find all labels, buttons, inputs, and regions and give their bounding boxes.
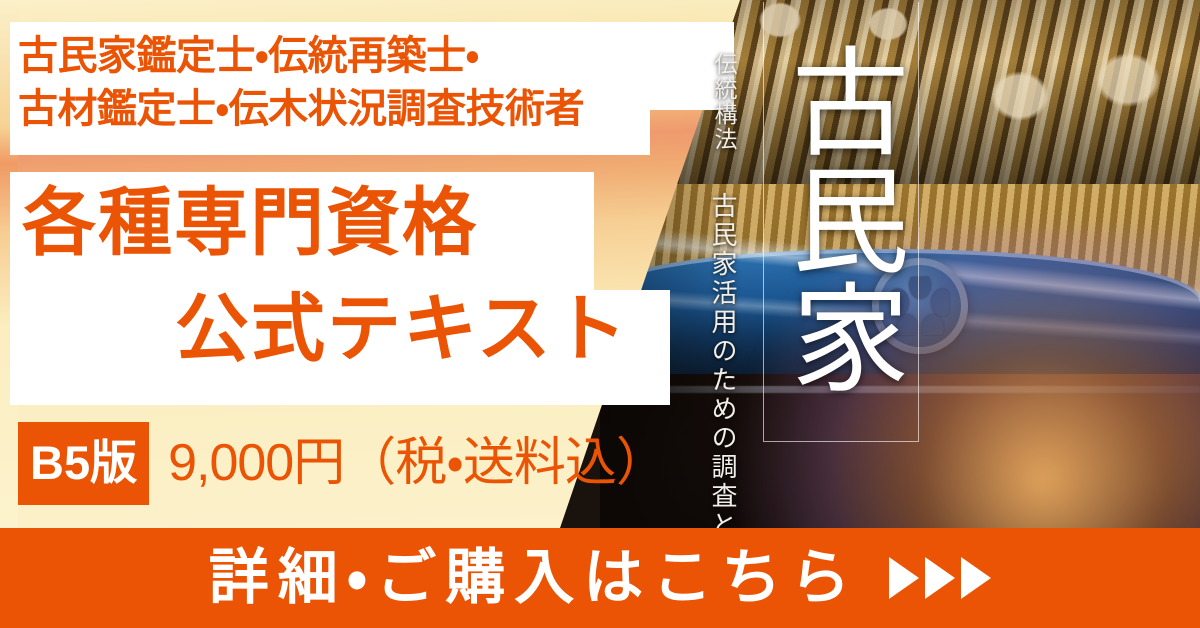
cta-label: 詳細・ご購入はこちら [209,548,859,608]
size-badge: B5版 [18,422,149,505]
promo-banner: 古民家 伝統構法 古民家活用のための調査と再生の 古民家鑑定士・伝統再築士・ 古… [0,0,1200,628]
cta-bar[interactable]: 詳細・ご購入はこちら [0,528,1200,628]
triangle-right-icon [925,557,955,599]
book-cover-title: 古民家 [780,8,908,428]
price-amount: 9,000円（税・送料込） [168,437,667,489]
triangle-right-icon [961,557,991,599]
headline-line-1: 各種専門資格 [22,186,478,260]
cta-arrow-group [889,557,991,599]
book-cover-subtitle-top: 伝統構法 [706,52,740,182]
certification-list: 古民家鑑定士・伝統再築士・ 古材鑑定士・伝木状況調査技術者 [18,30,738,136]
triangle-right-icon [889,557,919,599]
certification-line-2: 古材鑑定士・伝木状況調査技術者 [18,83,738,136]
certification-line-1: 古民家鑑定士・伝統再築士・ [18,30,738,83]
price-row: B5版 9,000円（税・送料込） [18,421,667,505]
headline-line-2: 公式テキスト [175,292,629,366]
